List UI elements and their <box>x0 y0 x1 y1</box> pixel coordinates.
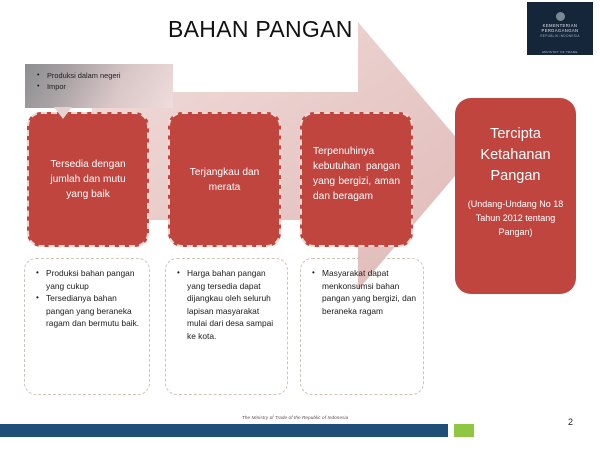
logo-line-2: PERDAGANGAN <box>542 28 579 33</box>
ministry-logo: KEMENTERIAN PERDAGANGAN REPUBLIK INDONES… <box>527 2 593 48</box>
list-item: Produksi dalam negeri <box>47 70 165 81</box>
pillar-label: Terjangkau dan merata <box>181 165 268 195</box>
list-item: Masyarakat dapat menkonsumsi bahan panga… <box>322 267 417 317</box>
footer-accent-square <box>454 424 474 437</box>
callout-box: Produksi dalam negeri Impor <box>25 64 173 108</box>
detail-column-utilization: Masyarakat dapat menkonsumsi bahan panga… <box>300 258 424 395</box>
logo-strip-label: MINISTRY OF TRADE <box>542 50 577 54</box>
list-item: Tersedianya bahan pangan yang beraneka r… <box>46 292 143 330</box>
outcome-box: Tercipta Ketahanan Pangan (Undang-Undang… <box>455 98 576 294</box>
detail-list: Produksi bahan pangan yang cukup Tersedi… <box>31 267 143 330</box>
list-item: Produksi bahan pangan yang cukup <box>46 267 143 292</box>
crest-icon <box>556 12 565 21</box>
outcome-title: Tercipta Ketahanan Pangan <box>464 124 567 187</box>
pillar-label: Terpenuhinya kebutuhan pangan yang bergi… <box>313 144 400 204</box>
detail-list: Masyarakat dapat menkonsumsi bahan panga… <box>307 267 417 317</box>
detail-column-affordability: Harga bahan pangan yang tersedia dapat d… <box>165 258 288 395</box>
page-number: 2 <box>568 417 573 427</box>
list-item: Harga bahan pangan yang tersedia dapat d… <box>187 267 281 343</box>
logo-line-3: REPUBLIK INDONESIA <box>540 34 580 38</box>
ministry-logo-strip: MINISTRY OF TRADE <box>527 48 593 55</box>
pillar-availability: Tersedia dengan jumlah dan mutu yang bai… <box>27 112 149 247</box>
footer-caption: The Ministry of Trade of the Republic of… <box>242 415 348 420</box>
background-arrow <box>92 22 472 290</box>
pillar-utilization: Terpenuhinya kebutuhan pangan yang bergi… <box>300 112 413 247</box>
callout-pointer <box>54 107 72 119</box>
slide-canvas: BAHAN PANGAN KEMENTERIAN PERDAGANGAN REP… <box>0 0 600 449</box>
footer-bar <box>0 424 448 437</box>
detail-list: Harga bahan pangan yang tersedia dapat d… <box>172 267 281 343</box>
pillar-label: Tersedia dengan jumlah dan mutu yang bai… <box>40 157 136 202</box>
detail-column-availability: Produksi bahan pangan yang cukup Tersedi… <box>24 258 150 395</box>
page-title: BAHAN PANGAN <box>168 16 353 43</box>
outcome-subtitle: (Undang-Undang No 18 Tahun 2012 tentang … <box>464 197 567 239</box>
list-item: Impor <box>47 81 165 92</box>
callout-list: Produksi dalam negeri Impor <box>33 70 165 92</box>
pillar-affordability: Terjangkau dan merata <box>168 112 281 247</box>
